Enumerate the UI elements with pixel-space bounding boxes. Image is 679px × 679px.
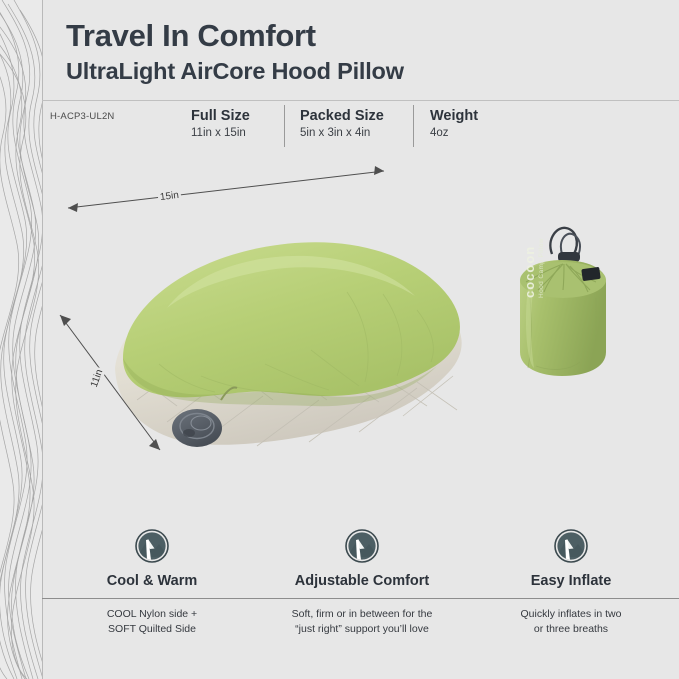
spec-divider-2 xyxy=(413,105,414,147)
feature-description-line: Soft, firm or in between for the xyxy=(258,607,466,622)
spec-packed-size-value: 5in x 3in x 4in xyxy=(300,127,384,139)
header: Travel In Comfort UltraLight AirCore Hoo… xyxy=(42,0,679,100)
feature-description-line: or three breaths xyxy=(467,622,675,637)
feature-description-line: Quickly inflates in two xyxy=(467,607,675,622)
features-section: Cool & Warm Adjustable Comfort xyxy=(42,515,679,679)
feature-description: Quickly inflates in two or three breaths xyxy=(467,607,675,637)
spec-full-size-value: 11in x 15in xyxy=(191,127,250,139)
product-image-area: COCOON xyxy=(42,155,679,505)
mountain-icon xyxy=(554,529,588,563)
spec-weight: Weight 4oz xyxy=(430,107,478,139)
feature-description-line: SOFT Quilted Side xyxy=(48,622,256,637)
feature-description-line: “just right” support you’ll love xyxy=(258,622,466,637)
spec-packed-size-label: Packed Size xyxy=(300,107,384,125)
spec-full-size-label: Full Size xyxy=(191,107,250,125)
spec-packed-size: Packed Size 5in x 3in x 4in xyxy=(300,107,384,139)
mountain-icon xyxy=(135,529,169,563)
spec-divider-1 xyxy=(284,105,285,147)
spec-row: H-ACP3-UL2N Full Size 11in x 15in Packed… xyxy=(42,101,679,151)
spec-weight-value: 4oz xyxy=(430,127,478,139)
feature-title: Easy Inflate xyxy=(467,573,675,589)
dimension-annotations xyxy=(42,155,679,505)
feature-adjustable-comfort: Adjustable Comfort xyxy=(258,515,466,589)
feature-cool-and-warm: Cool & Warm xyxy=(48,515,256,589)
feature-description-line: COOL Nylon side + xyxy=(48,607,256,622)
sku-code: H-ACP3-UL2N xyxy=(50,111,115,122)
feature-title: Adjustable Comfort xyxy=(258,573,466,589)
features-divider xyxy=(42,598,679,599)
feature-description: COOL Nylon side + SOFT Quilted Side xyxy=(48,607,256,637)
page-subtitle: UltraLight AirCore Hood Pillow xyxy=(66,57,679,85)
spec-full-size: Full Size 11in x 15in xyxy=(191,107,250,139)
feature-title: Cool & Warm xyxy=(48,573,256,589)
mountain-icon xyxy=(345,529,379,563)
feature-description: Soft, firm or in between for the “just r… xyxy=(258,607,466,637)
spec-weight-label: Weight xyxy=(430,107,478,125)
page-title: Travel In Comfort xyxy=(66,18,679,55)
topographic-pattern xyxy=(0,0,42,679)
product-infographic: Travel In Comfort UltraLight AirCore Hoo… xyxy=(0,0,679,679)
feature-easy-inflate: Easy Inflate xyxy=(467,515,675,589)
